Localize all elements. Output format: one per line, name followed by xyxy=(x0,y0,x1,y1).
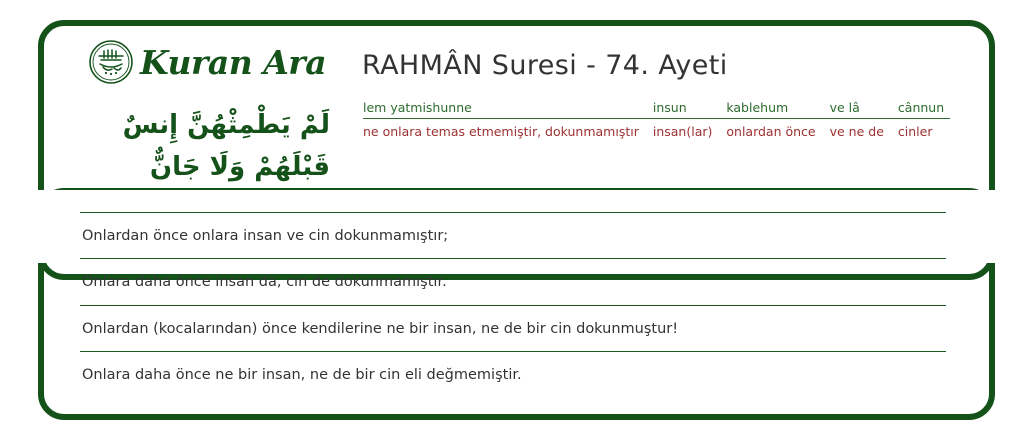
translation-text: Onlara daha önce insan da, cin de dokunm… xyxy=(80,259,946,304)
list-item: Onlardan önce onlara insan ve cin dokunm… xyxy=(80,212,946,258)
meaning-cell-4: cinler xyxy=(898,119,950,140)
list-item: Onlara daha önce ne bir insan, ne de bir… xyxy=(80,351,946,397)
translation-list: Onlardan önce onlara insan ve cin dokunm… xyxy=(80,212,946,398)
translit-cell-3: ve lâ xyxy=(830,100,898,119)
translation-text: Onlardan (kocalarından) önce kendilerine… xyxy=(80,306,946,351)
meaning-cell-0: ne onlara temas etmemiştir, dokunmamıştı… xyxy=(363,119,653,140)
meaning-cell-1: insan(lar) xyxy=(653,119,727,140)
translation-text: Onlara daha önce ne bir insan, ne de bir… xyxy=(80,352,946,397)
meaning-cell-3: ve ne de xyxy=(830,119,898,140)
translit-cell-4: cânnun xyxy=(898,100,950,119)
translit-cell-1: insun xyxy=(653,100,727,119)
translit-cell-0: lem yatmishunne xyxy=(363,100,653,119)
site-logo[interactable]: Kuran Ara xyxy=(88,36,328,88)
meaning-row: ne onlara temas etmemiştir, dokunmamıştı… xyxy=(363,119,950,140)
transliteration-row: lem yatmishunne insun kablehum ve lâ cân… xyxy=(363,100,950,119)
meaning-cell-2: onlardan önce xyxy=(726,119,829,140)
list-item: Onlardan (kocalarından) önce kendilerine… xyxy=(80,305,946,351)
quran-emblem-icon xyxy=(88,39,134,85)
translation-text: Onlardan önce onlara insan ve cin dokunm… xyxy=(80,213,946,258)
arabic-verse-text: لَمْ يَطْمِثْهُنَّ إِنسٌ قَبْلَهُمْ وَلَ… xyxy=(40,104,330,188)
logo-wordmark: Kuran Ara xyxy=(140,43,326,82)
list-item: Onlara daha önce insan da, cin de dokunm… xyxy=(80,258,946,304)
page-title: RAHMÂN Suresi - 74. Ayeti xyxy=(362,50,728,81)
translit-cell-2: kablehum xyxy=(726,100,829,119)
word-by-word-table: lem yatmishunne insun kablehum ve lâ cân… xyxy=(363,100,950,139)
